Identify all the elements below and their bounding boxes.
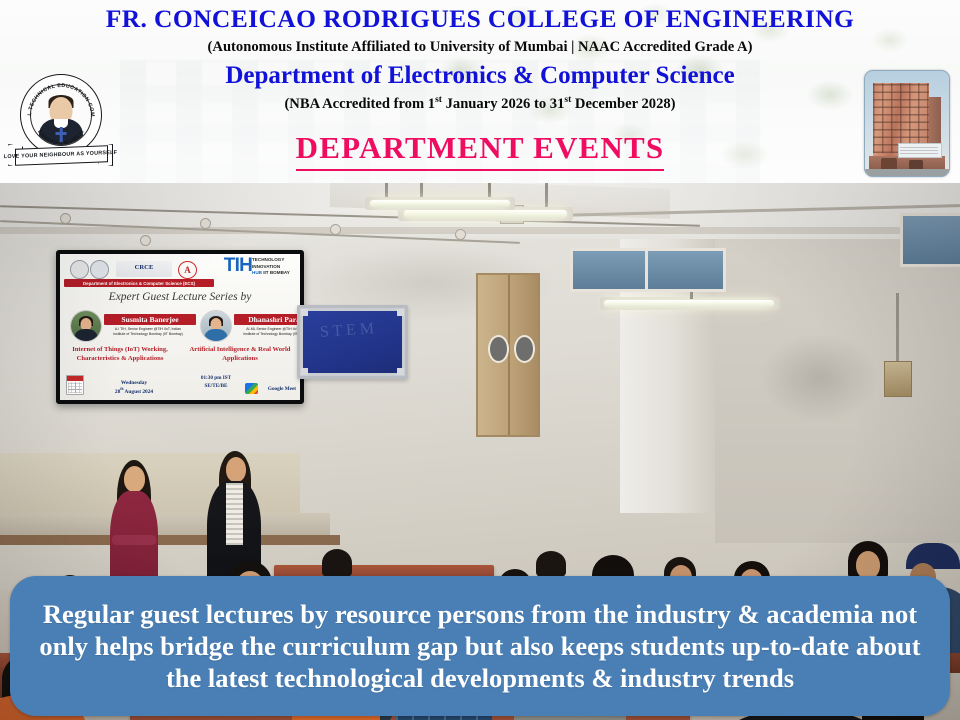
caption-box: Regular guest lectures by resource perso…: [10, 576, 950, 716]
slide-autonomous-badge: A: [178, 261, 197, 279]
slide-time-venue: 01:30 pm IST SE/TE/BE: [180, 375, 252, 391]
slide-department-bar: Department of Electronics & Computer Sci…: [64, 279, 214, 287]
slide-speaker1-affiliation: A.I TIH, Senior Engineer @TIH IIoT, Indi…: [112, 327, 184, 338]
slide-calendar-icon: [66, 375, 84, 395]
google-meet-icon: [245, 383, 258, 394]
slide-speaker1-photo: [70, 310, 102, 342]
slide-speaker2-name-badge: Dhanashri Parate: [234, 314, 300, 325]
department-name: Department of Electronics & Computer Sci…: [0, 63, 960, 88]
transom-window-right: [900, 213, 960, 267]
slide-tih-acronym: TIH: [224, 256, 252, 275]
slide-time: 01:30 pm IST: [180, 375, 252, 383]
presentation-screen: CRCE A TIH TECHNOLOGY INNOVATION HUB IIT…: [56, 250, 304, 404]
slide-date-suffix: August 2024: [123, 389, 153, 395]
slide-tih-line3-suffix: IIT Bombay: [262, 270, 290, 275]
slide-speaker1-name: Susmita Banerjee: [121, 315, 178, 324]
affiliation-line: (Autonomous Institute Affiliated to Univ…: [0, 40, 960, 55]
college-name: FR. CONCEICAO RODRIGUES COLLEGE OF ENGIN…: [0, 6, 960, 32]
presentation-slide: CRCE A TIH TECHNOLOGY INNOVATION HUB IIT…: [60, 254, 300, 400]
events-title-wrapper: DEPARTMENT EVENTS: [0, 132, 960, 171]
page-title: DEPARTMENT EVENTS: [296, 132, 665, 171]
nba-accreditation-line: (NBA Accredited from 1st January 2026 to…: [0, 96, 960, 111]
slide-tih-line2: INNOVATION: [252, 264, 296, 271]
poster-header: AGNEL TECHNICAL EDUCATION COMPLEX BANDRA…: [0, 0, 960, 183]
slide-speaker2-photo: [200, 310, 232, 342]
slide-tih-line1: TECHNOLOGY: [252, 257, 296, 264]
nba-prefix: (NBA Accredited from 1: [284, 96, 435, 112]
slide-speaker2-affiliation: AI-ML Senior Engineer @TIH IIoT, Indian …: [242, 327, 300, 338]
slide-platform-label: Google Meet: [268, 386, 296, 392]
slide-tih-line3: HUB: [252, 270, 262, 275]
slide-date: Wednesday 28th August 2024: [86, 379, 182, 396]
slide-crce-logo-text: CRCE: [116, 264, 172, 271]
noticeboard: S T E M: [297, 305, 408, 379]
slide-venue: SE/TE/BE: [180, 383, 252, 391]
classroom-door: [476, 273, 540, 437]
slide-tih-expansion: TECHNOLOGY INNOVATION HUB IIT Bombay: [252, 257, 296, 277]
transom-window-center: [570, 248, 726, 292]
slide-date-day: Wednesday: [86, 379, 182, 387]
slide-series-title: Expert Guest Lecture Series by: [60, 291, 300, 303]
nba-mid: January 2026 to 31: [442, 96, 564, 112]
slide-department-text: Department of Electronics & Computer Sci…: [83, 281, 195, 286]
caption-text: Regular guest lectures by resource perso…: [30, 598, 930, 695]
slide-speaker1-name-badge: Susmita Banerjee: [104, 314, 196, 325]
department-events-poster: AGNEL TECHNICAL EDUCATION COMPLEX BANDRA…: [0, 0, 960, 720]
nba-sup-1: st: [435, 95, 442, 105]
slide-speaker2-name: Dhanashri Parate: [248, 315, 300, 324]
nba-suffix: December 2028): [571, 96, 675, 112]
slide-speaker2-topic: Artificial Intelligence & Real World App…: [186, 346, 294, 364]
slide-speaker1-topic: Internet of Things (IoT) Working, Charac…: [66, 346, 174, 364]
